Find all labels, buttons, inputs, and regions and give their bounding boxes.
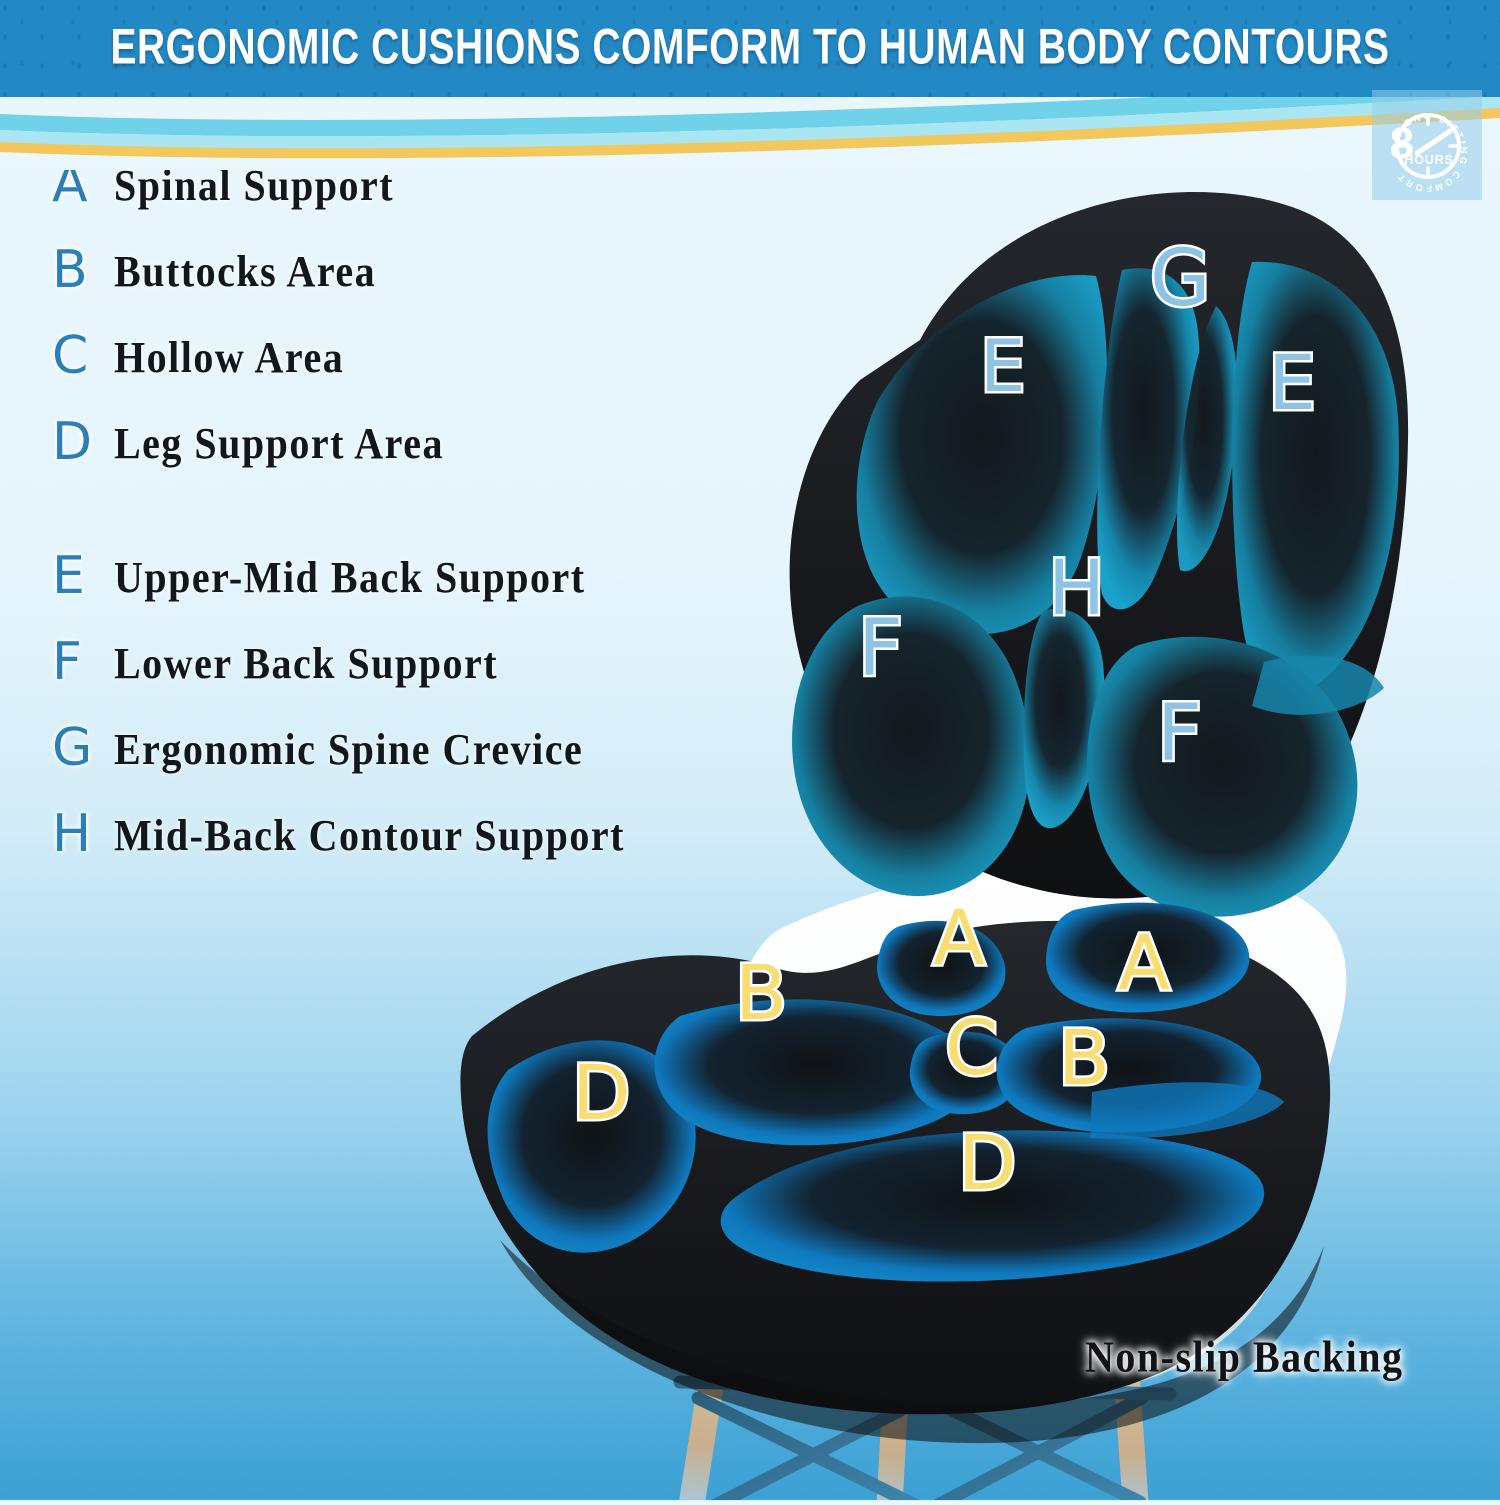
legend-item-h[interactable]: H Mid-Back Contour Support — [52, 808, 712, 894]
badge-unit: HOURS — [1404, 153, 1453, 167]
page-title: ERGONOMIC CUSHIONS COMFORM TO HUMAN BODY… — [0, 20, 1500, 76]
backrest-label-f1: F — [858, 610, 903, 688]
legend-label-g: Ergonomic Spine Crevice — [114, 727, 583, 772]
seat-label-b1: B — [735, 955, 787, 1031]
seat-label-d2: D — [958, 1125, 1017, 1201]
legend-letter-c: C — [52, 330, 114, 382]
header-banner: ERGONOMIC CUSHIONS COMFORM TO HUMAN BODY… — [0, 0, 1500, 97]
legend-label-f: Lower Back Support — [114, 641, 498, 686]
backrest-label-e1: E — [980, 330, 1026, 402]
backrest-label-f2: F — [1157, 695, 1202, 773]
long-sitting-comfort-badge: 8 HOURS LONG SITTING COMFORT — [1372, 90, 1482, 200]
legend-label-e: Upper-Mid Back Support — [114, 555, 586, 600]
seat-label-a1: A — [933, 900, 985, 976]
non-slip-backing-callout: Non-slip Backing — [1085, 1330, 1404, 1383]
backrest-label-h: H — [1048, 550, 1105, 626]
legend-item-c[interactable]: C Hollow Area — [52, 330, 712, 416]
legend-list: A Spinal Support B Buttocks Area C Hollo… — [52, 158, 712, 894]
clock-icon: 8 HOURS LONG SITTING COMFORT — [1372, 90, 1482, 200]
legend-item-g[interactable]: G Ergonomic Spine Crevice — [52, 722, 712, 808]
legend-label-b: Buttocks Area — [114, 249, 376, 294]
legend-letter-b: B — [52, 244, 114, 296]
legend-item-d[interactable]: D Leg Support Area — [52, 416, 712, 502]
backrest-label-g: G — [1150, 240, 1210, 318]
seat-label-c: C — [945, 1010, 998, 1086]
legend-item-b[interactable]: B Buttocks Area — [52, 244, 712, 330]
legend-letter-f: F — [52, 636, 114, 688]
legend-label-h: Mid-Back Contour Support — [114, 813, 625, 858]
legend-item-a[interactable]: A Spinal Support — [52, 158, 712, 244]
legend-letter-g: G — [52, 722, 114, 774]
legend-letter-d: D — [52, 416, 114, 468]
seat-label-d1: D — [572, 1055, 631, 1131]
legend-label-c: Hollow Area — [114, 335, 344, 380]
legend-item-f[interactable]: F Lower Back Support — [52, 636, 712, 722]
legend-item-e[interactable]: E Upper-Mid Back Support — [52, 550, 712, 636]
legend-letter-e: E — [52, 550, 114, 602]
seat-label-a2: A — [1118, 925, 1170, 1001]
infographic-stage: E G E H F F B A C A B D D Non-slip Backi… — [0, 0, 1500, 1500]
seat-label-b2: B — [1058, 1020, 1110, 1096]
legend-letter-h: H — [52, 808, 114, 860]
legend-label-d: Leg Support Area — [114, 421, 444, 466]
backrest-label-e2: E — [1268, 345, 1316, 421]
